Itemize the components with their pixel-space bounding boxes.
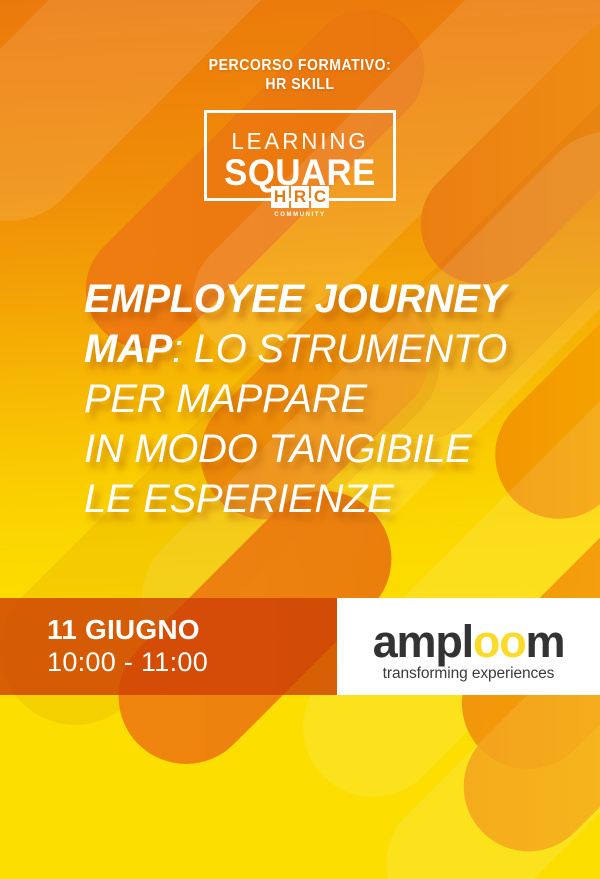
event-date-panel: 11 GIUGNO 10:00 - 11:00 — [0, 598, 337, 695]
logo-line-learning: LEARNING — [210, 129, 390, 153]
headline-line-4: IN MODO TANGIBILE — [84, 424, 554, 474]
poster-canvas: PERCORSO FORMATIVO: HR SKILL LEARNING SQ… — [0, 0, 600, 879]
eyebrow-line-1: PERCORSO FORMATIVO: — [36, 56, 564, 75]
bg-bar-7 — [437, 532, 600, 878]
eyebrow-heading: PERCORSO FORMATIVO: HR SKILL — [36, 56, 564, 94]
hrc-mark: H R C — [269, 186, 331, 208]
headline-line-3: PER MAPPARE — [84, 374, 554, 424]
hrc-letter-r: R — [291, 186, 309, 208]
page-title: EMPLOYEE JOURNEY MAP: LO STRUMENTO PER M… — [84, 274, 554, 524]
amploom-part-oo: oo — [473, 616, 526, 667]
amploom-logo: amploom transforming experiences — [337, 620, 600, 683]
bg-bar-2 — [396, 0, 600, 309]
event-info-strip: 11 GIUGNO 10:00 - 11:00 amploom transfor… — [0, 598, 600, 695]
amploom-tagline: transforming experiences — [337, 665, 600, 683]
hrc-letter-h: H — [271, 186, 289, 208]
headline-line-5: LE ESPERIENZE — [84, 474, 554, 524]
headline-line-2-rest: : LO STRUMENTO — [172, 327, 507, 371]
event-time: 10:00 - 11:00 — [47, 646, 208, 678]
hrc-community-logo: H R C COMMUNITY — [269, 186, 331, 219]
headline-line-2-bold: MAP — [84, 327, 172, 371]
event-date-text-group: 11 GIUGNO 10:00 - 11:00 — [47, 614, 208, 678]
event-date: 11 GIUGNO — [47, 614, 208, 646]
headline-line-2: MAP: LO STRUMENTO — [84, 324, 554, 374]
headline-line-1: EMPLOYEE JOURNEY — [84, 274, 554, 324]
amploom-part-m: m — [526, 616, 565, 667]
sponsor-logo-panel: amploom transforming experiences — [337, 598, 600, 695]
amploom-part-ampl: ampl — [373, 616, 473, 667]
eyebrow-line-2: HR SKILL — [36, 75, 564, 94]
hrc-letter-c: C — [311, 186, 329, 208]
hrc-community-label: COMMUNITY — [269, 211, 331, 219]
amploom-wordmark: amploom — [337, 620, 600, 664]
